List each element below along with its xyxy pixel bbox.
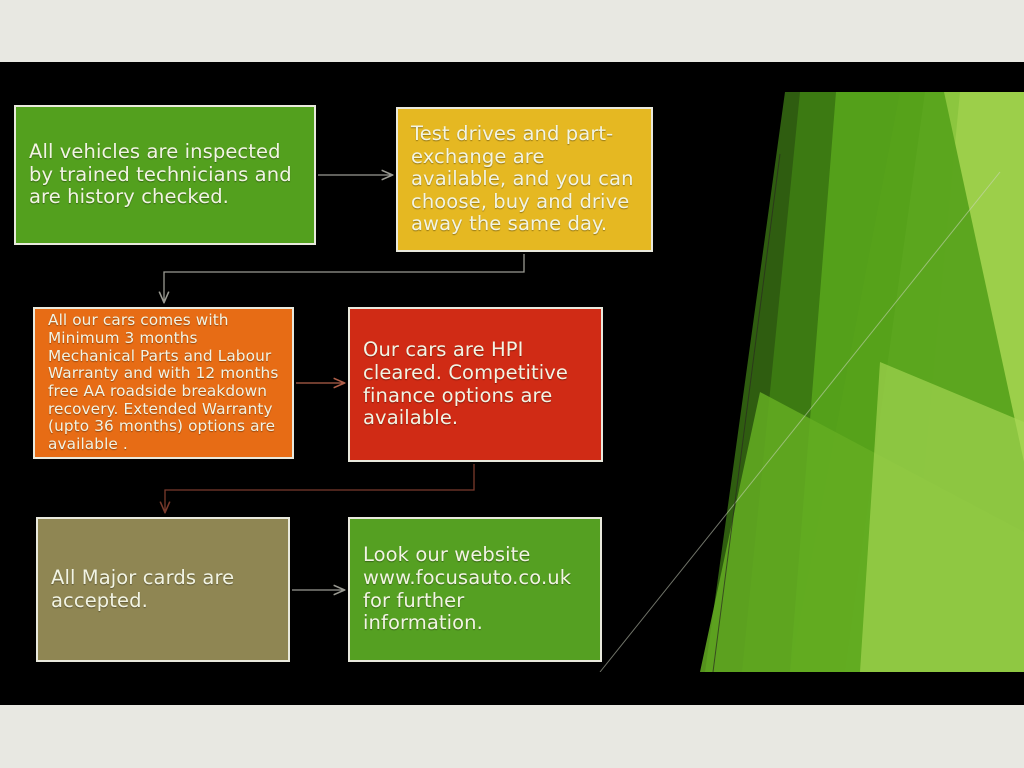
decor-polygon-7 (700, 392, 1024, 672)
decor-bottom-mask (0, 672, 1024, 705)
node-test-drives[interactable]: Test drives and part-exchange are availa… (396, 107, 653, 252)
slide-canvas: All vehicles are inspected by trained te… (0, 0, 1024, 768)
letterbox-bottom (0, 705, 1024, 768)
decor-polygon-2 (742, 92, 1024, 672)
node-warranty[interactable]: All our cars comes with Minimum 3 months… (33, 307, 294, 459)
node-website[interactable]: Look our website www.focusauto.co.uk for… (348, 517, 602, 662)
decor-polygon-6 (790, 92, 1024, 672)
connector-testdrive-to-warranty (164, 254, 524, 302)
node-test-drives-text: Test drives and part-exchange are availa… (411, 123, 638, 236)
node-hpi-cleared[interactable]: Our cars are HPI cleared. Competitive fi… (348, 307, 603, 462)
node-website-text: Look our website www.focusauto.co.uk for… (363, 544, 587, 634)
decor-polygon-5 (905, 92, 1024, 672)
letterbox-top (0, 0, 1024, 62)
decor-hairline-2 (713, 154, 780, 672)
decor-top-mask (0, 62, 1024, 92)
decor-polygon-4 (845, 92, 1024, 672)
node-major-cards-text: All Major cards are accepted. (51, 567, 275, 612)
connector-hpi-to-cards (165, 464, 474, 512)
presentation-slide: All vehicles are inspected by trained te… (0, 62, 1024, 705)
decor-polygon-8 (860, 362, 1024, 672)
node-vehicle-inspection-text: All vehicles are inspected by trained te… (29, 141, 301, 209)
node-vehicle-inspection[interactable]: All vehicles are inspected by trained te… (14, 105, 316, 245)
decor-polygon-3 (790, 92, 1024, 672)
decor-polygon-1 (705, 92, 1024, 672)
node-hpi-cleared-text: Our cars are HPI cleared. Competitive fi… (363, 339, 588, 429)
node-warranty-text: All our cars comes with Minimum 3 months… (48, 312, 279, 454)
node-major-cards[interactable]: All Major cards are accepted. (36, 517, 290, 662)
decor-hairline-1 (600, 172, 1000, 672)
